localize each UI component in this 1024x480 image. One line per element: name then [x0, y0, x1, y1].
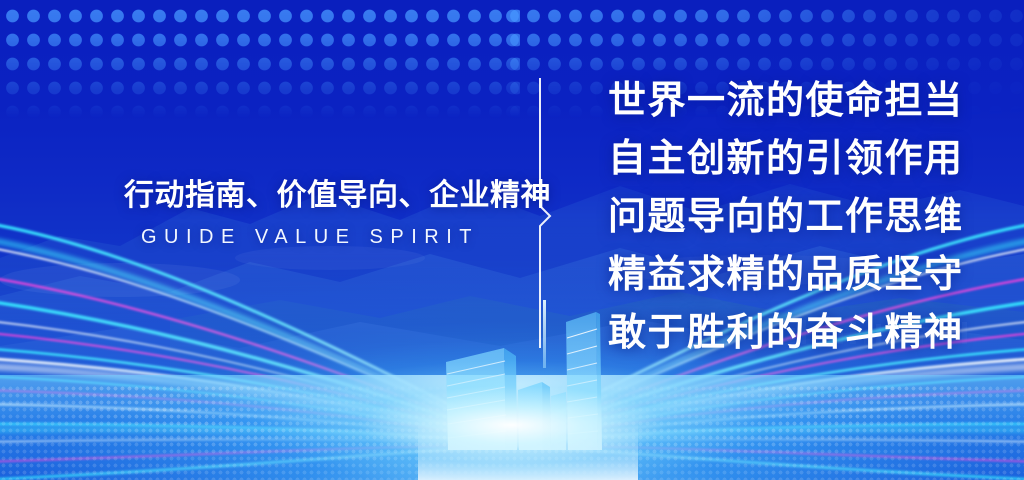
tagline-english: GUIDE VALUE SPIRIT	[124, 226, 496, 248]
headline-item-1: 世界一流的使命担当	[608, 72, 968, 130]
headline-item-2: 自主创新的引领作用	[608, 130, 968, 188]
tagline-block: 行动指南、价值导向、企业精神 GUIDE VALUE SPIRIT	[124, 178, 496, 248]
halftone-dot-pattern-left	[0, 0, 520, 118]
tagline-chinese: 行动指南、价值导向、企业精神	[124, 178, 496, 213]
culture-banner: 行动指南、价值导向、企业精神 GUIDE VALUE SPIRIT 世界一流的使…	[0, 0, 1024, 480]
headline-item-3: 问题导向的工作思维	[608, 188, 968, 246]
headline-item-5: 敢于胜利的奋斗精神	[608, 304, 968, 362]
headline-list: 世界一流的使命担当 自主创新的引领作用 问题导向的工作思维 精益求精的品质坚守 …	[608, 72, 968, 362]
headline-item-4: 精益求精的品质坚守	[608, 246, 968, 304]
vertical-divider	[528, 78, 558, 348]
chevron-right-icon	[540, 78, 550, 348]
